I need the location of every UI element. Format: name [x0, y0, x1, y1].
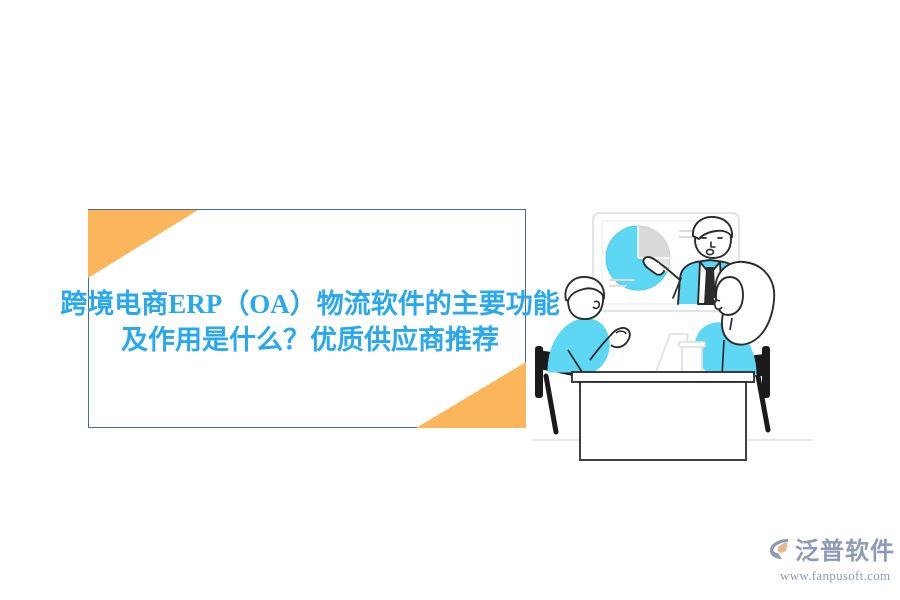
desk — [572, 372, 754, 460]
video-conference-illustration — [530, 200, 815, 475]
fanpu-logo-icon — [766, 536, 792, 567]
cup — [679, 342, 705, 374]
page-title-line-1: 跨境电商ERP（OA）物流软件的主要功能 — [60, 286, 560, 322]
watermark-logo: 泛普软件 www.fanpusoft.com — [766, 536, 896, 586]
page-title: 跨境电商ERP（OA）物流软件的主要功能 及作用是什么？优质供应商推荐 — [60, 286, 560, 358]
watermark-brand-name: 泛普软件 — [795, 539, 895, 565]
watermark-url: www.fanpusoft.com — [780, 568, 890, 583]
watermark-top-row: 泛普软件 — [766, 536, 895, 567]
page-title-line-2: 及作用是什么？优质供应商推荐 — [60, 322, 560, 358]
